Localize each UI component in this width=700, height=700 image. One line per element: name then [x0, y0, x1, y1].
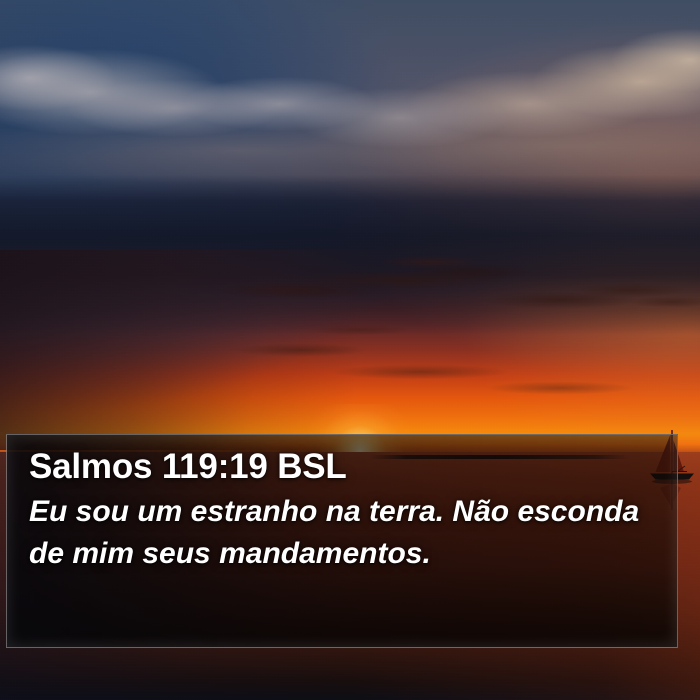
- verse-text: Eu sou um estranho na terra. Não esconda…: [29, 491, 649, 575]
- verse-image-canvas: Salmos 119:19 BSL Eu sou um estranho na …: [0, 0, 700, 700]
- verse-overlay-panel: Salmos 119:19 BSL Eu sou um estranho na …: [6, 434, 678, 648]
- verse-reference: Salmos 119:19 BSL: [29, 445, 663, 489]
